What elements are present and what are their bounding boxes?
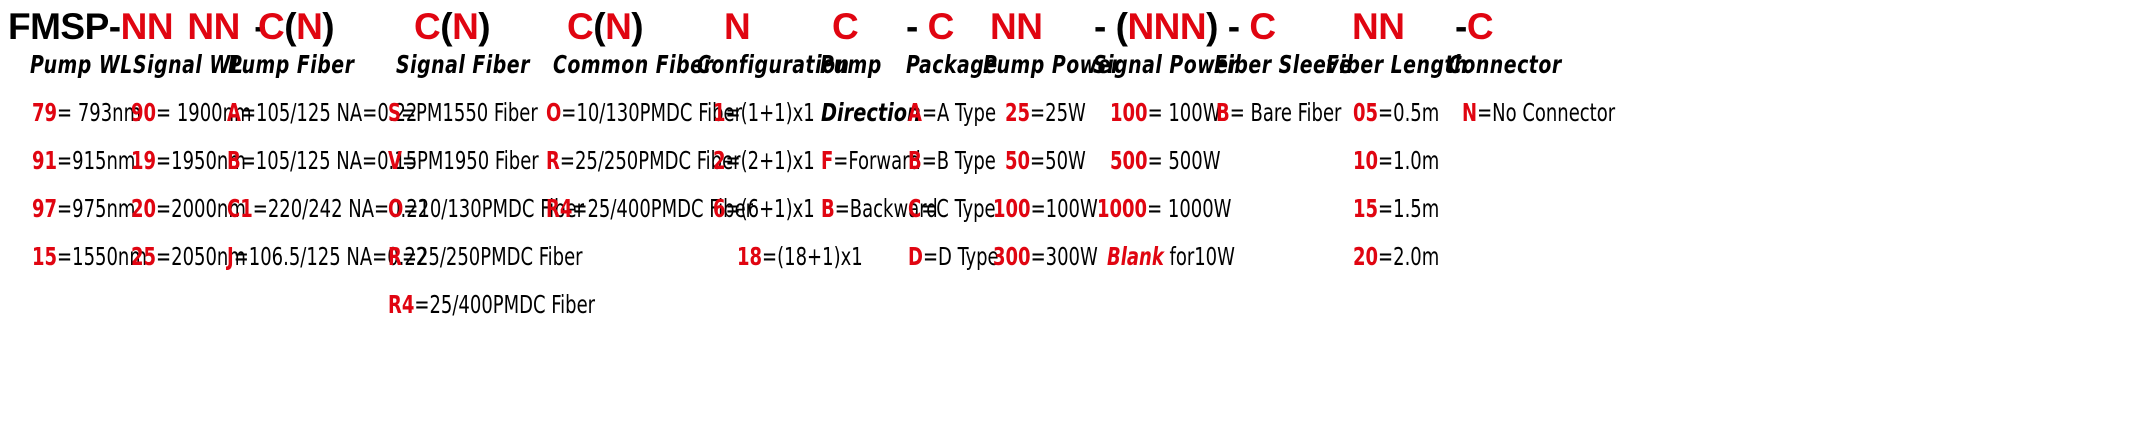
- code-pump-direction-text: C: [832, 6, 858, 47]
- pump-power-value-0: 25W: [1045, 98, 1086, 127]
- column-title-common-fiber: Common Fiber: [553, 52, 713, 77]
- package-key-2: C: [908, 194, 921, 223]
- fiber-length-sep-3: =: [1378, 242, 1393, 271]
- signal-power-sep-2: =: [1147, 194, 1168, 223]
- configuration-key-0: 1: [713, 98, 726, 127]
- pump-wl-key-3: 15: [32, 242, 57, 271]
- signal-fiber-sep-0: =: [401, 98, 416, 127]
- part-number-decoder-sheet: FMSP-NN NN - C(N) C(N) C(N) N C - C NN -…: [0, 0, 2139, 427]
- configuration-sep-1: =: [726, 146, 741, 175]
- code-signal-wl: NN: [187, 6, 239, 47]
- code-pump-fiber: C(N): [258, 8, 334, 45]
- code-prefix-text: FMSP-: [8, 6, 121, 47]
- column-title-signal-fiber: Signal Fiber: [396, 52, 530, 77]
- fiber-length-key-2: 15: [1353, 194, 1378, 223]
- common-fiber-sep-1: =: [560, 146, 575, 175]
- pump-fiber-key-1: B: [227, 146, 241, 175]
- signal-fiber-value-3: 25/250PMDC Fiber: [417, 242, 583, 271]
- pump-fiber-key-2: C1: [227, 194, 253, 223]
- common-fiber-sep-2: =: [572, 194, 587, 223]
- signal-fiber-key-4: R4: [388, 290, 414, 319]
- signal-power-value-1: 500W: [1168, 146, 1220, 175]
- column-title-pump-fiber: Pump Fiber: [228, 52, 354, 77]
- pump-fiber-sep-2: =: [253, 194, 268, 223]
- pump-wl-sep-2: =: [57, 194, 72, 223]
- list-item: S=PM1550 Fiber: [388, 100, 538, 125]
- signal-power-sep-0: =: [1148, 98, 1169, 127]
- list-item: 79= 793nm: [32, 100, 141, 125]
- fiber-length-key-3: 20: [1353, 242, 1378, 271]
- list-item: 15=1550nm: [32, 244, 147, 269]
- configuration-sep-3: =: [762, 242, 777, 271]
- signal-power-key-0: 100: [1110, 98, 1148, 127]
- pump-direction-key-0: F: [821, 146, 833, 175]
- pump-power-key-2: 100: [993, 194, 1031, 223]
- list-item: 300=300W: [993, 244, 1098, 269]
- signal-power-key-2: 1000: [1097, 194, 1147, 223]
- fiber-length-key-1: 10: [1353, 146, 1378, 175]
- pump-power-value-1: 50W: [1045, 146, 1086, 175]
- code-pump-wl: NN: [121, 6, 173, 47]
- package-sep-3: =: [923, 242, 938, 271]
- code-signal-fiber: C(N): [414, 8, 490, 45]
- pump-fiber-sep-0: =: [241, 98, 256, 127]
- package-value-3: D Type: [938, 242, 999, 271]
- code-configuration-text: N: [724, 6, 750, 47]
- list-item: 500= 500W: [1110, 148, 1221, 173]
- configuration-sep-0: =: [726, 98, 741, 127]
- connector-value-0: No Connector: [1492, 98, 1615, 127]
- signal-power-key-3: Blank: [1107, 242, 1164, 271]
- package-key-0: A: [908, 98, 922, 127]
- list-item: B=B Type: [908, 148, 996, 173]
- pump-power-sep-3: =: [1031, 242, 1046, 271]
- signal-fiber-sep-1: =: [402, 146, 417, 175]
- pump-power-sep-0: =: [1030, 98, 1045, 127]
- list-item: R=25/250PMDC Fiber: [546, 148, 741, 173]
- signal-wl-sep-3: =: [156, 242, 171, 271]
- configuration-value-2: (6+1)x1: [741, 194, 815, 223]
- column-title-connector: Connector: [1448, 52, 1562, 77]
- column-title-fiber-length: Fiber Length: [1326, 52, 1468, 77]
- pump-power-value-2: 100W: [1046, 194, 1098, 223]
- code-signal-power: - (NNN) - C: [1094, 8, 1276, 45]
- pump-fiber-key-0: A: [227, 98, 241, 127]
- list-item: 100=100W: [993, 196, 1098, 221]
- common-fiber-key-2: R4: [546, 194, 572, 223]
- list-item: 2=(2+1)x1: [713, 148, 815, 173]
- list-item: 6=(6+1)x1: [713, 196, 815, 221]
- fiber-sleeve-value-0: Bare Fiber: [1251, 98, 1342, 127]
- list-item: 97=975nm: [32, 196, 135, 221]
- list-item: 18=(18+1)x1: [737, 244, 863, 269]
- pump-wl-key-0: 79: [32, 98, 57, 127]
- fiber-length-value-0: 0.5m: [1393, 98, 1439, 127]
- list-item: 15=1.5m: [1353, 196, 1439, 221]
- signal-wl-key-3: 25: [131, 242, 156, 271]
- pump-direction-sep-1: =: [835, 194, 850, 223]
- list-item: 1000= 1000W: [1097, 196, 1231, 221]
- column-title-pump: Pump: [820, 52, 882, 77]
- package-value-0: A Type: [937, 98, 996, 127]
- fiber-length-key-0: 05: [1353, 98, 1378, 127]
- list-item: 05=0.5m: [1353, 100, 1439, 125]
- pump-wl-key-1: 91: [32, 146, 57, 175]
- connector-sep-0: =: [1477, 98, 1492, 127]
- common-fiber-sep-0: =: [561, 98, 576, 127]
- pump-fiber-sep-3: =: [234, 242, 249, 271]
- code-pump-power: NN: [990, 8, 1042, 45]
- pump-power-key-0: 25: [1005, 98, 1030, 127]
- code-fiber-length-text: NN: [1352, 6, 1404, 47]
- fiber-length-value-2: 1.5m: [1393, 194, 1439, 223]
- pump-wl-value-2: 975nm: [72, 194, 135, 223]
- list-item: F=Forward: [821, 148, 921, 173]
- list-item: V=PM1950 Fiber: [388, 148, 539, 173]
- code-pump-direction: C: [832, 8, 858, 45]
- pump-direction-key-1: B: [821, 194, 835, 223]
- list-item: 50=50W: [1005, 148, 1086, 173]
- pump-wl-sep-1: =: [57, 146, 72, 175]
- list-item: C=C Type: [908, 196, 996, 221]
- fiber-length-value-1: 1.0m: [1393, 146, 1439, 175]
- list-item: B= Bare Fiber: [1216, 100, 1341, 125]
- list-item: 1=(1+1)x1: [713, 100, 815, 125]
- list-item: D=D Type: [908, 244, 999, 269]
- package-key-1: B: [908, 146, 922, 175]
- configuration-value-1: (2+1)x1: [741, 146, 815, 175]
- package-key-3: D: [908, 242, 923, 271]
- list-item: A=A Type: [908, 100, 996, 125]
- signal-fiber-sep-3: =: [402, 242, 417, 271]
- pump-wl-sep-0: =: [57, 98, 78, 127]
- configuration-sep-2: =: [726, 194, 741, 223]
- pump-power-sep-2: =: [1031, 194, 1046, 223]
- list-item: R4=25/400PMDC Fiber: [388, 292, 595, 317]
- signal-wl-sep-0: =: [156, 98, 177, 127]
- pump-power-value-3: 300W: [1046, 242, 1098, 271]
- configuration-key-1: 2: [713, 146, 726, 175]
- package-value-1: B Type: [937, 146, 996, 175]
- list-item: 91=915nm: [32, 148, 135, 173]
- list-item: 10=1.0m: [1353, 148, 1439, 173]
- signal-power-value-2: 1000W: [1168, 194, 1232, 223]
- signal-fiber-value-4: 25/400PMDC Fiber: [429, 290, 595, 319]
- fiber-length-sep-1: =: [1378, 146, 1393, 175]
- pump-fiber-sep-1: =: [241, 146, 256, 175]
- fiber-sleeve-sep-0: =: [1230, 98, 1251, 127]
- list-item: Blank for10W: [1107, 244, 1235, 269]
- signal-fiber-key-0: S: [388, 98, 401, 127]
- pump-wl-sep-3: =: [57, 242, 72, 271]
- signal-power-value-3: for10W: [1170, 242, 1235, 271]
- signal-fiber-value-1: PM1950 Fiber: [417, 146, 539, 175]
- signal-power-value-0: 100W: [1168, 98, 1220, 127]
- code-pump-power-text: NN: [990, 6, 1042, 47]
- fiber-length-sep-0: =: [1378, 98, 1393, 127]
- package-sep-1: =: [922, 146, 937, 175]
- signal-fiber-key-3: R: [388, 242, 402, 271]
- pump-power-key-3: 300: [993, 242, 1031, 271]
- signal-wl-key-1: 19: [131, 146, 156, 175]
- list-item: 100= 100W: [1110, 100, 1221, 125]
- signal-wl-sep-1: =: [156, 146, 171, 175]
- code-prefix-fmsp: FMSP-NN NN -: [8, 8, 266, 45]
- list-item: R=25/250PMDC Fiber: [388, 244, 583, 269]
- configuration-value-3: (18+1)x1: [777, 242, 863, 271]
- signal-power-key-1: 500: [1110, 146, 1148, 175]
- package-sep-2: =: [921, 194, 936, 223]
- package-sep-0: =: [922, 98, 937, 127]
- configuration-key-2: 6: [713, 194, 726, 223]
- pump-direction-sep-0: =: [833, 146, 848, 175]
- signal-fiber-sep-2: =: [403, 194, 418, 223]
- pump-power-sep-1: =: [1030, 146, 1045, 175]
- signal-fiber-value-0: PM1550 Fiber: [416, 98, 538, 127]
- signal-wl-key-0: 90: [131, 98, 156, 127]
- column-title-signal-wl: Signal WL: [133, 52, 243, 77]
- signal-fiber-sep-4: =: [414, 290, 429, 319]
- list-item: 25=25W: [1005, 100, 1086, 125]
- code-configuration: N: [724, 8, 750, 45]
- pump-direction-subtitle: Direction: [821, 100, 921, 125]
- configuration-value-0: (1+1)x1: [741, 98, 815, 127]
- list-item: 20=2.0m: [1353, 244, 1439, 269]
- list-item: N=No Connector: [1462, 100, 1615, 125]
- pump-power-key-1: 50: [1005, 146, 1030, 175]
- common-fiber-key-1: R: [546, 146, 560, 175]
- common-fiber-key-0: O: [546, 98, 561, 127]
- column-title-pump-wl: Pump WL: [30, 52, 133, 77]
- code-fiber-length: NN: [1352, 8, 1404, 45]
- code-package: - C: [906, 8, 954, 45]
- code-common-fiber: C(N): [567, 8, 643, 45]
- fiber-length-value-3: 2.0m: [1393, 242, 1439, 271]
- connector-key-0: N: [1462, 98, 1477, 127]
- pump-wl-value-1: 915nm: [72, 146, 135, 175]
- pump-wl-key-2: 97: [32, 194, 57, 223]
- signal-wl-key-2: 20: [131, 194, 156, 223]
- signal-fiber-key-2: O: [388, 194, 403, 223]
- fiber-sleeve-key-0: B: [1216, 98, 1230, 127]
- signal-wl-sep-2: =: [156, 194, 171, 223]
- fiber-length-sep-2: =: [1378, 194, 1393, 223]
- signal-power-sep-1: =: [1148, 146, 1169, 175]
- package-value-2: C Type: [936, 194, 995, 223]
- signal-fiber-key-1: V: [388, 146, 402, 175]
- configuration-key-3: 18: [737, 242, 762, 271]
- code-connector: -C: [1455, 8, 1493, 45]
